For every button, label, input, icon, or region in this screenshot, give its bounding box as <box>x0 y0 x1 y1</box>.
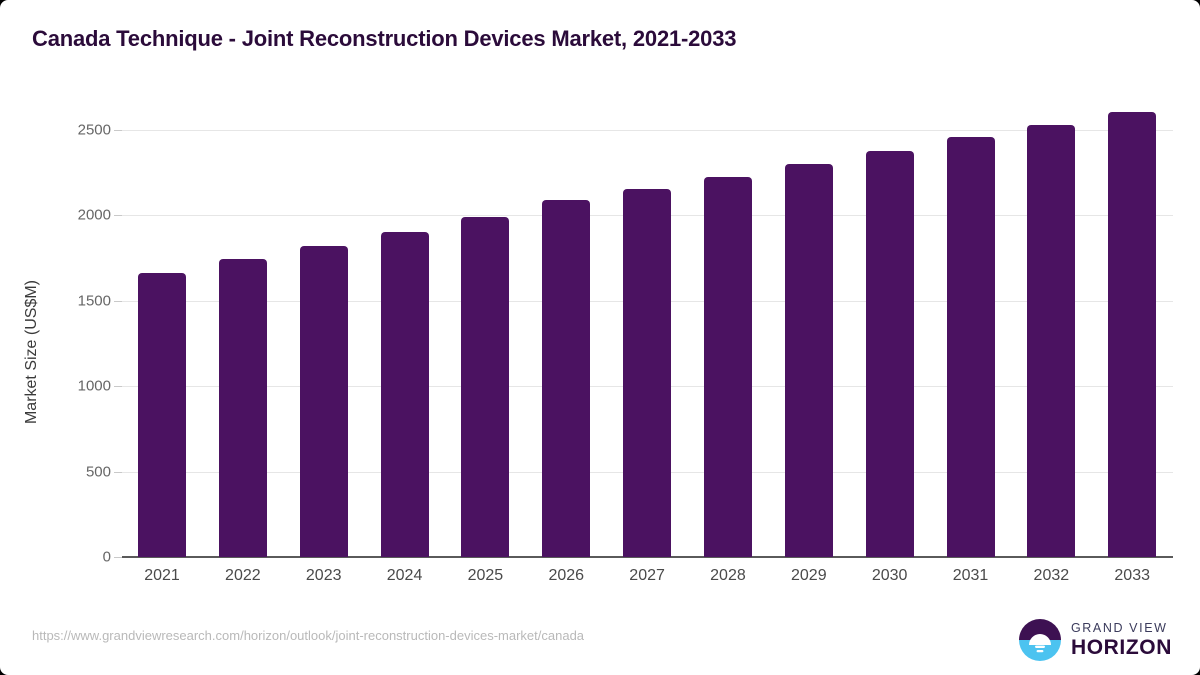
bar-2024[interactable] <box>381 232 429 557</box>
chart-card: Canada Technique - Joint Reconstruction … <box>0 0 1200 675</box>
x-tick-label-2024: 2024 <box>360 567 450 585</box>
bar-chart-plot-area: 05001000150020002500 2021202220232024202… <box>0 0 1200 675</box>
x-tick-label-2032: 2032 <box>1006 567 1096 585</box>
source-url[interactable]: https://www.grandviewresearch.com/horizo… <box>32 628 584 643</box>
x-tick-label-2030: 2030 <box>845 567 935 585</box>
bar-2029[interactable] <box>785 164 833 557</box>
x-tick-label-2026: 2026 <box>521 567 611 585</box>
y-tick-label: 500 <box>86 463 111 480</box>
x-tick-label-2029: 2029 <box>764 567 854 585</box>
x-tick-label-2025: 2025 <box>440 567 530 585</box>
bar-2026[interactable] <box>542 200 590 557</box>
bar-2025[interactable] <box>461 217 509 557</box>
bar-2028[interactable] <box>704 177 752 557</box>
y-tickmark <box>114 557 122 558</box>
brand-logo: GRAND VIEW HORIZON <box>1018 616 1172 664</box>
bar-2033[interactable] <box>1108 112 1156 557</box>
y-tick-label: 2000 <box>78 207 111 224</box>
x-tick-label-2023: 2023 <box>279 567 369 585</box>
bar-2027[interactable] <box>623 189 671 557</box>
x-tick-label-2031: 2031 <box>926 567 1016 585</box>
logo-line-horizon: HORIZON <box>1071 637 1172 658</box>
bar-2030[interactable] <box>866 151 914 557</box>
y-axis-title: Market Size (US$M) <box>23 202 41 502</box>
y-tick-label: 0 <box>103 549 111 566</box>
x-tick-label-2033: 2033 <box>1087 567 1177 585</box>
x-tick-label-2028: 2028 <box>683 567 773 585</box>
x-tick-label-2027: 2027 <box>602 567 692 585</box>
y-tickmark <box>114 215 122 216</box>
bar-2023[interactable] <box>300 246 348 557</box>
y-tick-label: 2500 <box>78 122 111 139</box>
x-tick-label-2021: 2021 <box>117 567 207 585</box>
horizon-circle-icon <box>1018 618 1062 662</box>
y-tick-label: 1500 <box>78 292 111 309</box>
y-tick-label: 1000 <box>78 378 111 395</box>
bar-2022[interactable] <box>219 259 267 557</box>
logo-wordmark: GRAND VIEW HORIZON <box>1071 622 1172 659</box>
y-tickmark <box>114 386 122 387</box>
logo-line-grand-view: GRAND VIEW <box>1071 622 1172 635</box>
y-tickmark <box>114 472 122 473</box>
y-tickmark <box>114 130 122 131</box>
bar-2021[interactable] <box>138 273 186 557</box>
bar-2031[interactable] <box>947 137 995 557</box>
gridline <box>122 130 1173 131</box>
x-tick-label-2022: 2022 <box>198 567 288 585</box>
y-tickmark <box>114 301 122 302</box>
bar-2032[interactable] <box>1027 125 1075 557</box>
